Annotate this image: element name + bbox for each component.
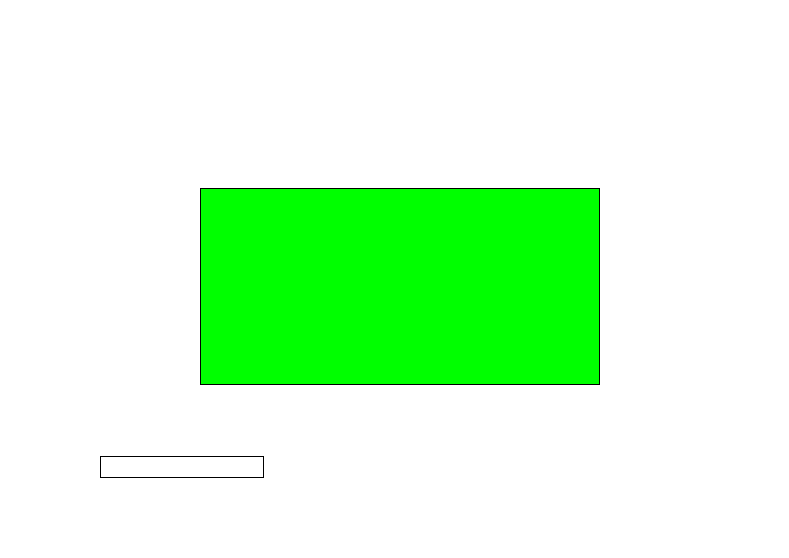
heatmap-image — [201, 189, 599, 384]
colorbar-tick-labels — [92, 480, 277, 498]
figure-canvas — [0, 0, 789, 558]
heatmap-plot-area — [200, 188, 600, 385]
colorbar — [100, 456, 264, 478]
